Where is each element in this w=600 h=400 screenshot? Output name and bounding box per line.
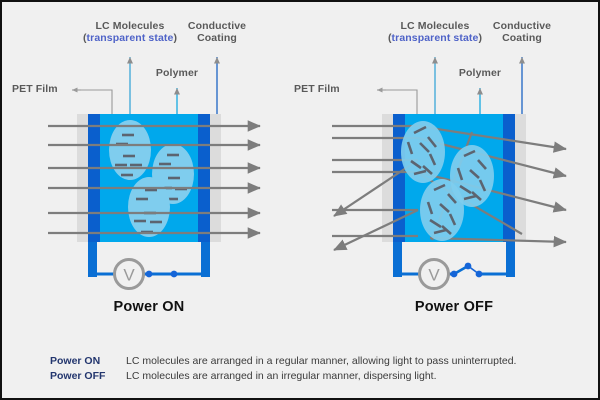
label-pet-film-left: PET Film <box>12 84 58 96</box>
power-on-title: Power ON <box>114 299 185 315</box>
lc-molecules-state: (transparent state) <box>388 33 482 45</box>
switch-terminal[interactable] <box>146 271 153 278</box>
pet-film-leader <box>386 90 417 114</box>
leader-lines-left <box>72 57 217 114</box>
legend-row: Power OFF <box>50 366 105 384</box>
pet-film-right-slab <box>515 114 526 242</box>
lc-droplet <box>109 120 151 180</box>
pet-film-left-slab <box>77 114 88 242</box>
label-conductive-coating-right: Conductive Coating <box>493 21 551 45</box>
label-lc-molecules-right: LC Molecules (transparent state) <box>388 21 482 45</box>
circuit-right-wall <box>201 242 210 277</box>
lc-droplet <box>401 121 445 183</box>
label-polymer-left: Polymer <box>156 68 198 80</box>
legend-description: LC molecules are arranged in an irregula… <box>126 370 437 382</box>
switch-terminal[interactable] <box>465 263 472 270</box>
circuit-left-wall <box>393 242 402 277</box>
legend-key: Power OFF <box>50 370 105 382</box>
label-lc-molecules-left: LC Molecules (transparent state) <box>83 21 177 45</box>
pet-film-right-slab <box>210 114 221 242</box>
label-polymer-right: Polymer <box>459 68 501 80</box>
circuit-left-wall <box>88 242 97 277</box>
label-pet-film-right: PET Film <box>294 84 340 96</box>
circuit-right-wall <box>506 242 515 277</box>
voltmeter-letter: V <box>123 266 135 285</box>
switch-terminal[interactable] <box>451 271 458 278</box>
circuit-power-on: V <box>88 242 210 289</box>
conductive-coating-left <box>88 114 100 242</box>
legend-desc-wrap: LC molecules are arranged in an irregula… <box>126 366 437 384</box>
conductive-coating-left <box>393 114 405 242</box>
conductive-coating-line1: Conductive <box>188 21 246 33</box>
conductive-coating-line2: Coating <box>493 33 551 45</box>
panel-power-on: V <box>48 57 260 289</box>
pet-film-leader <box>81 90 112 114</box>
diagram-graphics: V <box>2 2 600 400</box>
lc-molecules-state: (transparent state) <box>83 33 177 45</box>
switch-terminal[interactable] <box>171 271 178 278</box>
voltmeter-letter: V <box>428 266 440 285</box>
conductive-coating-line2: Coating <box>188 33 246 45</box>
power-off-title: Power OFF <box>415 299 493 315</box>
panel-power-off: V <box>332 57 566 289</box>
lc-droplet <box>128 177 170 237</box>
conductive-coating-right <box>198 114 210 242</box>
circuit-power-off: V <box>393 242 515 289</box>
leader-lines-right <box>377 57 522 114</box>
switch-terminal[interactable] <box>476 271 483 278</box>
conductive-coating-line1: Conductive <box>493 21 551 33</box>
label-conductive-coating-left: Conductive Coating <box>188 21 246 45</box>
diagram-canvas: V <box>0 0 600 400</box>
